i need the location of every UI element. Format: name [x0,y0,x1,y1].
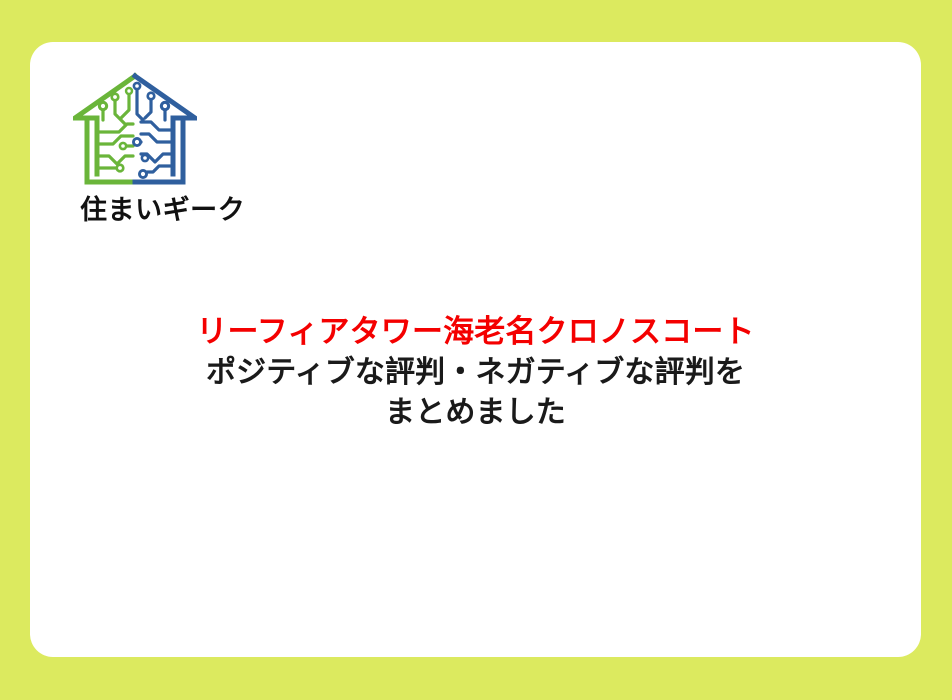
circuit-house-icon [73,70,197,188]
headline-subtitle-line-1: ポジティブな評判・ネガティブな評判を [30,353,921,393]
headline-subtitle-line-2: まとめました [30,393,921,433]
brand-logo-block[interactable]: 住まいギーク [55,70,285,226]
content-card: 住まいギーク リーフィアタワー海老名クロノスコート ポジティブな評判・ネガティブ… [30,42,921,657]
brand-wordmark: 住まいギーク [80,196,285,226]
headline-block: リーフィアタワー海老名クロノスコート ポジティブな評判・ネガティブな評判を まと… [30,312,921,433]
slide-canvas: 住まいギーク リーフィアタワー海老名クロノスコート ポジティブな評判・ネガティブ… [0,0,952,700]
headline-property-name: リーフィアタワー海老名クロノスコート [30,312,921,353]
